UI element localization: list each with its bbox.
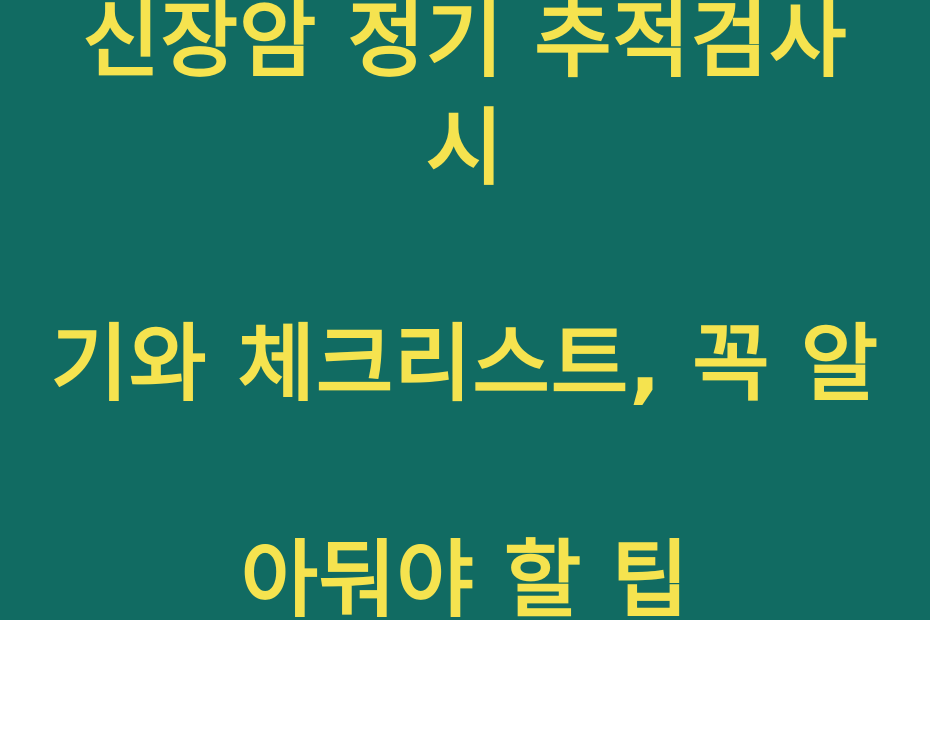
headline-line-1: 신장암 정기 추적검사 시 <box>50 0 880 202</box>
page-title: 신장암 정기 추적검사 시 기와 체크리스트, 꼭 알 아둬야 할 팁 <box>50 0 880 742</box>
headline-line-2: 기와 체크리스트, 꼭 알 <box>50 310 880 418</box>
title-card: 신장암 정기 추적검사 시 기와 체크리스트, 꼭 알 아둬야 할 팁 <box>0 0 930 620</box>
headline-line-3: 아둬야 할 팁 <box>50 526 880 634</box>
